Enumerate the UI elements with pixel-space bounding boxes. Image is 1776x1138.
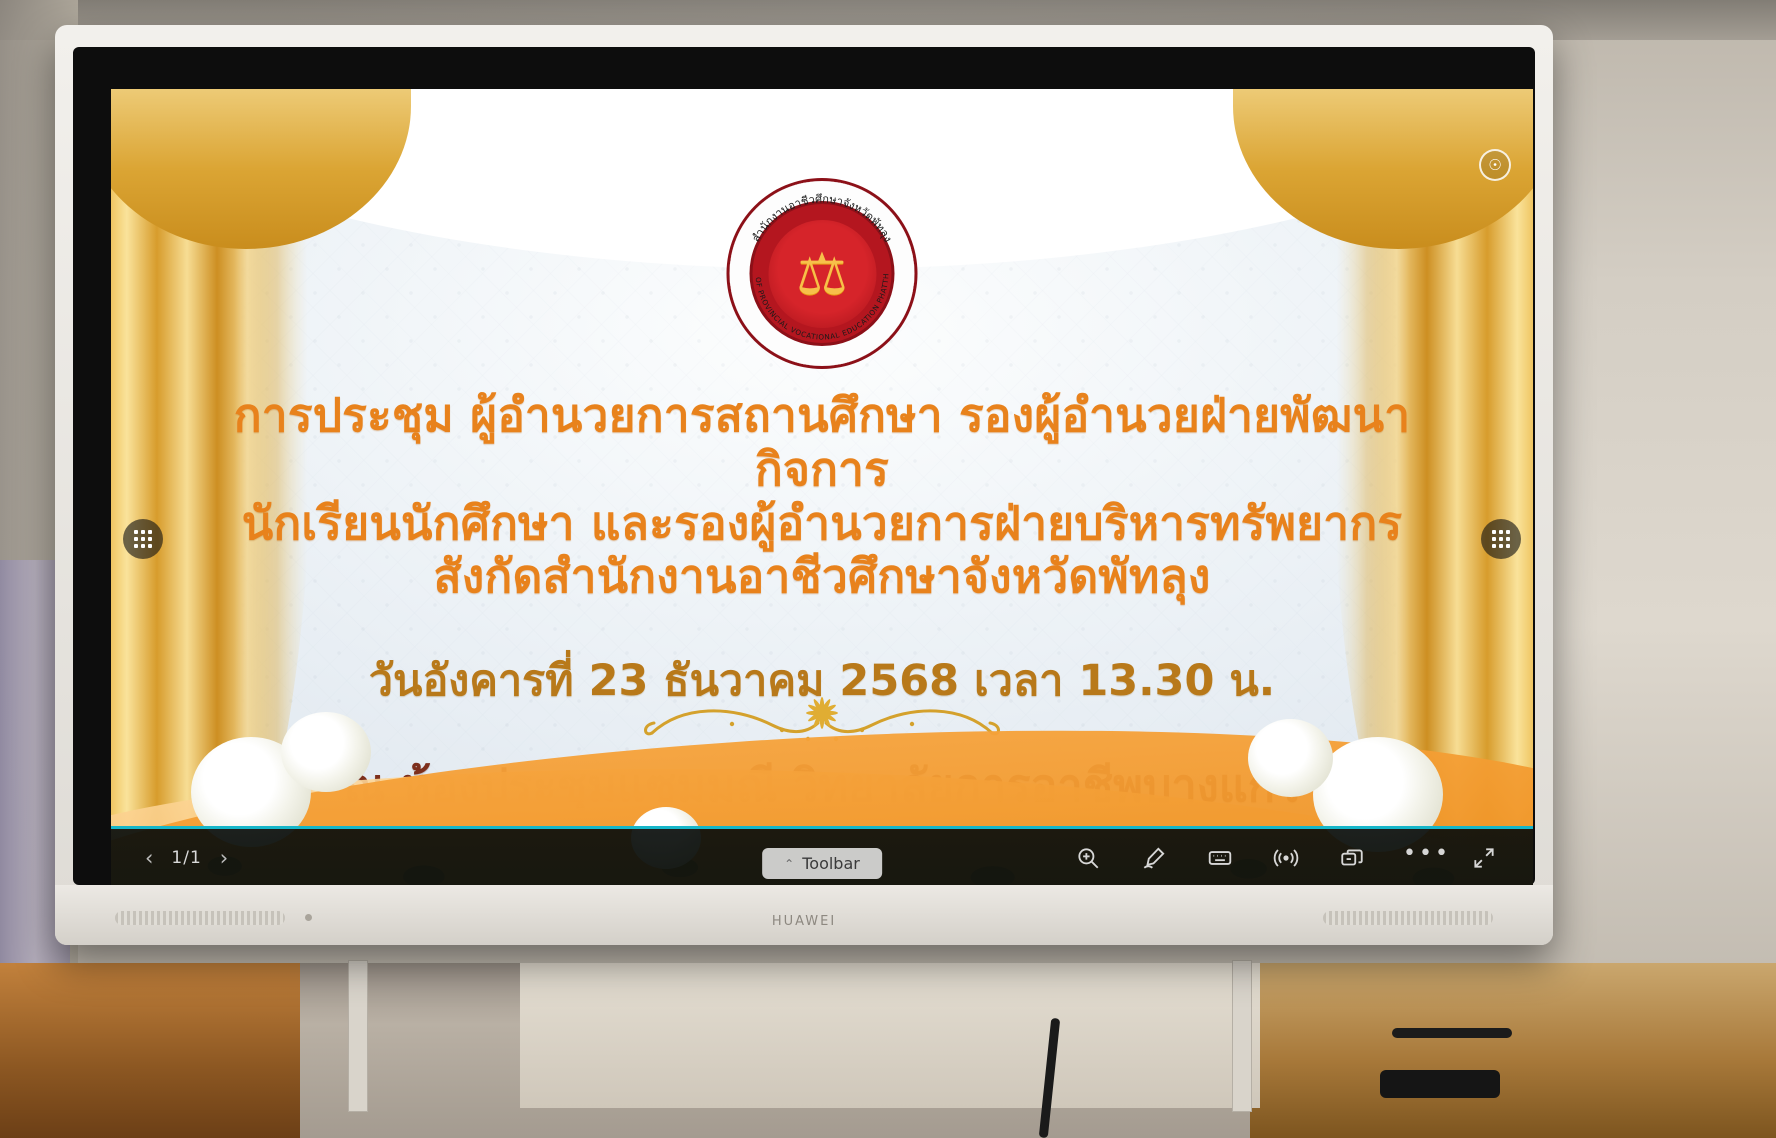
desk-center-panel: [520, 963, 1260, 1108]
dot-grid-handle-right-icon[interactable]: [1481, 519, 1521, 559]
more-options-icon[interactable]: •••: [1403, 839, 1433, 877]
screenshot-root: สำนักงานอาชีวศึกษาจังหวัดพัทลุง OFFICE O…: [0, 0, 1776, 1138]
caret-up-icon: ⌃: [784, 857, 794, 871]
organization-seal: สำนักงานอาชีวศึกษาจังหวัดพัทลุง OFFICE O…: [730, 181, 915, 366]
thai-royal-emblem-icon: ⚖: [796, 245, 848, 303]
presentation-screen[interactable]: สำนักงานอาชีวศึกษาจังหวัดพัทลุง OFFICE O…: [111, 89, 1533, 887]
next-page-button[interactable]: ›: [220, 846, 228, 870]
seal-core: ⚖: [768, 220, 876, 328]
display-stand-right: [1232, 960, 1252, 1112]
globe-icon[interactable]: ☉: [1479, 149, 1511, 181]
speaker-grill-left: [115, 911, 285, 925]
display-stand-left: [348, 960, 368, 1112]
status-led: [305, 914, 312, 921]
bottom-toolbar: ‹ 1/1 ›: [111, 826, 1533, 887]
cast-broadcast-icon[interactable]: [1271, 843, 1301, 873]
title-line-1: การประชุม ผู้อำนวยการสถานศึกษา รองผู้อำน…: [206, 389, 1438, 497]
keyboard-icon[interactable]: [1205, 843, 1235, 873]
toolbar-icon-group: •••: [1073, 839, 1499, 877]
dot-grid-handle-left-icon[interactable]: [123, 519, 163, 559]
toolbar-toggle-label: Toolbar: [802, 854, 860, 873]
toolbar-toggle-button[interactable]: ⌃ Toolbar: [762, 848, 882, 879]
panel-chin: HUAWEI: [55, 885, 1553, 945]
slide-title-block: การประชุม ผู้อำนวยการสถานศึกษา รองผู้อำน…: [111, 389, 1533, 714]
flower-decor-right-2: [1248, 719, 1333, 797]
display-bezel: สำนักงานอาชีวศึกษาจังหวัดพัทลุง OFFICE O…: [73, 47, 1535, 885]
stylus-pen: [1392, 1028, 1512, 1038]
desk-wood-left: [0, 963, 300, 1138]
slide-canvas: สำนักงานอาชีวศึกษาจังหวัดพัทลุง OFFICE O…: [111, 89, 1533, 887]
device-dongle: [1380, 1070, 1500, 1098]
page-navigation: ‹ 1/1 ›: [145, 846, 228, 870]
speaker-grill-right: [1323, 911, 1493, 925]
annotate-pen-icon[interactable]: [1139, 843, 1169, 873]
title-line-3: สังกัดสำนักงานอาชีวศึกษาจังหวัดพัทลุง: [206, 550, 1438, 604]
interactive-flat-panel: สำนักงานอาชีวศึกษาจังหวัดพัทลุง OFFICE O…: [55, 25, 1553, 945]
device-brand-label: HUAWEI: [772, 914, 836, 929]
title-line-2: นักเรียนนักศึกษา และรองผู้อำนวยการฝ่ายบร…: [206, 497, 1438, 551]
flower-decor-left-2: [281, 712, 371, 792]
zoom-in-icon[interactable]: [1073, 843, 1103, 873]
multi-window-icon[interactable]: [1337, 843, 1367, 873]
collapse-icon[interactable]: [1469, 843, 1499, 873]
prev-page-button[interactable]: ‹: [145, 846, 153, 870]
desk-wood-right: [1250, 963, 1776, 1138]
page-indicator: 1/1: [171, 848, 201, 868]
